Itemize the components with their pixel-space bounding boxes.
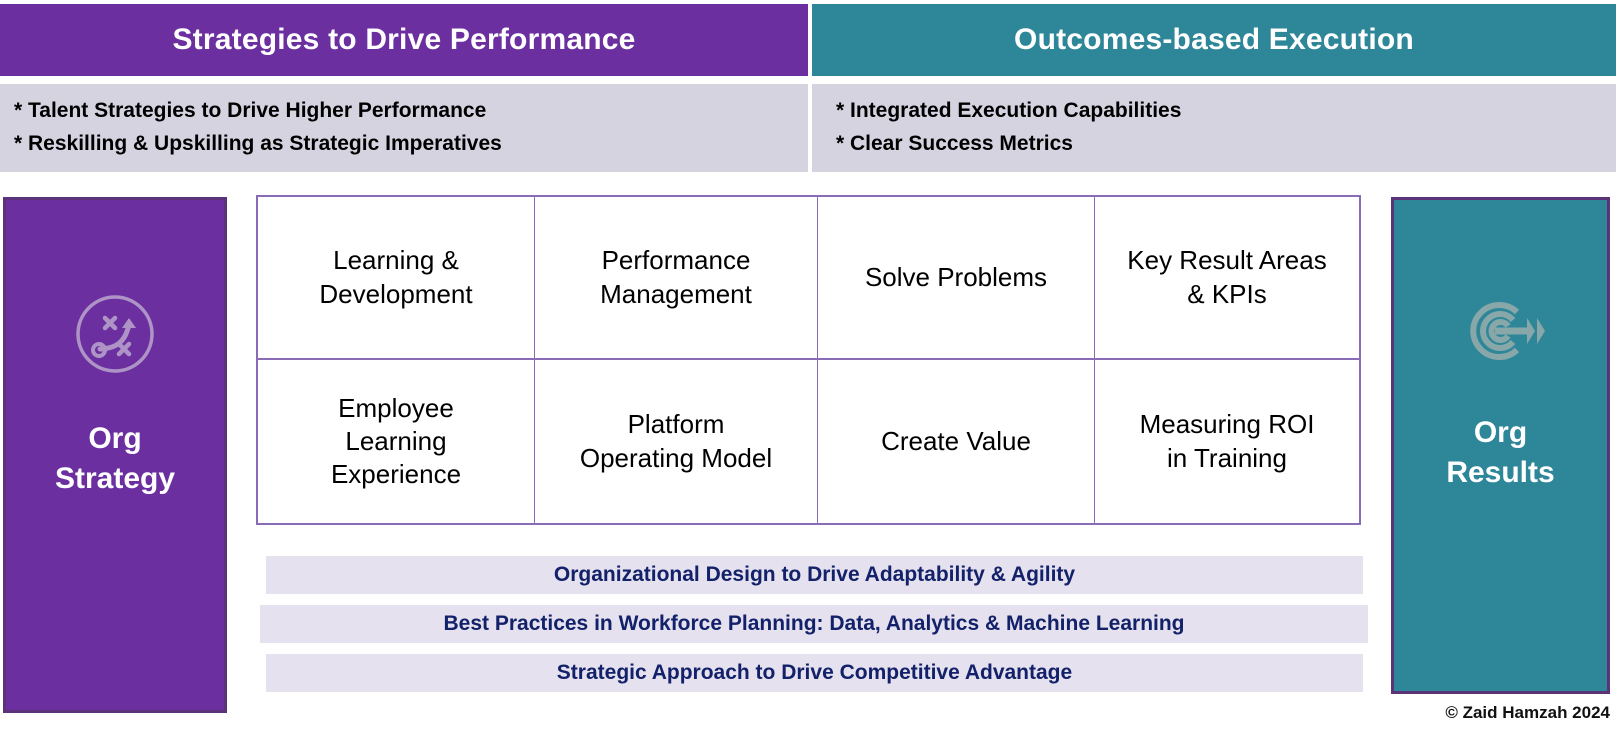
band-workforce-planning-label: Best Practices in Workforce Planning: Da…	[443, 612, 1184, 636]
band-workforce-planning: Best Practices in Workforce Planning: Da…	[260, 605, 1368, 643]
header-strategies: Strategies to Drive Performance	[0, 4, 808, 76]
subtitle-right-line-2: * Clear Success Metrics	[836, 128, 1616, 161]
pillar-org-strategy: Org Strategy	[3, 197, 227, 713]
subtitle-left-line-1: * Talent Strategies to Drive Higher Perf…	[14, 95, 808, 128]
subtitle-left-line-2: * Reskilling & Upskilling as Strategic I…	[14, 128, 808, 161]
subtitle-right-line-1: * Integrated Execution Capabilities	[836, 95, 1616, 128]
grid-cell-learning-development: Learning & Development	[258, 197, 535, 360]
subtitle-band-left: * Talent Strategies to Drive Higher Perf…	[0, 84, 808, 172]
grid-cell-solve-problems: Solve Problems	[818, 197, 1095, 360]
pillar-org-strategy-label: Org Strategy	[55, 419, 175, 499]
slide-canvas: Strategies to Drive Performance Outcomes…	[0, 0, 1616, 735]
header-outcomes: Outcomes-based Execution	[812, 4, 1616, 76]
target-arrow-icon	[1455, 292, 1547, 375]
header-outcomes-label: Outcomes-based Execution	[1014, 23, 1414, 57]
grid-cell-employee-learning-experience: Employee Learning Experience	[258, 360, 535, 523]
band-organizational-design-label: Organizational Design to Drive Adaptabil…	[554, 563, 1075, 587]
grid-cell-platform-operating-model: Platform Operating Model	[535, 360, 818, 523]
pillar-org-results: Org Results	[1391, 197, 1610, 694]
grid-cell-create-value: Create Value	[818, 360, 1095, 523]
header-strategies-label: Strategies to Drive Performance	[172, 23, 635, 57]
pillar-org-results-label: Org Results	[1446, 413, 1554, 493]
grid-cell-key-result-areas: Key Result Areas & KPIs	[1095, 197, 1359, 360]
grid-cell-measuring-roi-in-training: Measuring ROI in Training	[1095, 360, 1359, 523]
strategy-playbook-icon	[73, 292, 157, 381]
subtitle-band-right: * Integrated Execution Capabilities * Cl…	[812, 84, 1616, 172]
grid-cell-performance-management: Performance Management	[535, 197, 818, 360]
copyright-credit: © Zaid Hamzah 2024	[1445, 703, 1610, 723]
band-organizational-design: Organizational Design to Drive Adaptabil…	[266, 556, 1363, 594]
band-strategic-approach: Strategic Approach to Drive Competitive …	[266, 654, 1363, 692]
capability-grid: Learning & Development Performance Manag…	[256, 195, 1361, 525]
band-strategic-approach-label: Strategic Approach to Drive Competitive …	[557, 661, 1072, 685]
